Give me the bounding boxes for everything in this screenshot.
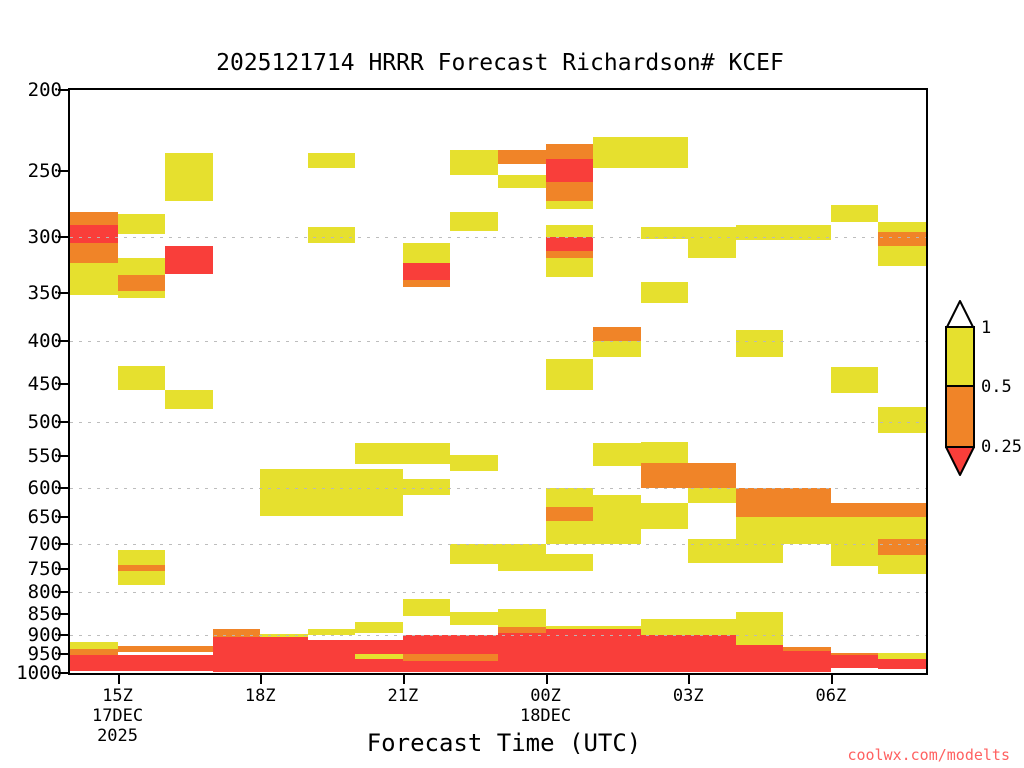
y-axis-tick-mark	[58, 543, 68, 545]
heatmap-cell	[736, 612, 784, 635]
heatmap-cell	[165, 153, 213, 201]
heatmap-cell	[118, 646, 213, 653]
heatmap-cell	[403, 654, 498, 662]
y-axis-tick-label: 350	[28, 282, 62, 304]
heatmap-cell	[450, 150, 498, 175]
heatmap-cell	[355, 622, 403, 633]
colorbar-label-0.5: 0.5	[981, 377, 1012, 397]
chart-title: 2025121714 HRRR Forecast Richardson# KCE…	[0, 50, 1024, 76]
heatmap-cell	[165, 390, 213, 409]
x-tick-line1: 00Z	[530, 686, 561, 706]
heatmap-cell	[593, 137, 688, 167]
x-axis-tick-label: 18Z	[245, 686, 276, 706]
heatmap-cell	[878, 539, 926, 555]
heatmap-cell	[308, 153, 356, 168]
x-axis-tick-mark	[403, 675, 405, 684]
heatmap-cell	[355, 654, 403, 659]
chart-root: 2025121714 HRRR Forecast Richardson# KCE…	[0, 0, 1024, 768]
x-tick-line1: 21Z	[388, 686, 419, 706]
y-axis-tick-mark	[58, 613, 68, 615]
heatmap-cell	[213, 629, 261, 637]
y-axis-tick-label: 850	[28, 603, 62, 625]
colorbar-top-arrow	[945, 300, 975, 328]
heatmap-cell	[593, 341, 641, 357]
chart-title-text: 2025121714 HRRR Forecast Richardson# KCE…	[216, 50, 784, 76]
y-axis-tick-mark	[58, 455, 68, 457]
heatmap-cell	[641, 463, 736, 488]
x-axis-ticks	[68, 675, 928, 685]
colorbar-body	[945, 326, 975, 448]
y-axis-tick-label: 250	[28, 160, 62, 182]
heatmap-cell	[641, 442, 689, 463]
heatmap-cell	[546, 182, 594, 201]
y-axis-tick-label: 450	[28, 373, 62, 395]
heatmap-cell	[831, 367, 879, 393]
y-axis-tick-label: 700	[28, 533, 62, 555]
heatmap-cell	[498, 150, 546, 164]
heatmap-cell	[498, 633, 546, 672]
x-axis-tick-label: 03Z	[673, 686, 704, 706]
heatmap-cell	[403, 263, 451, 281]
colorbar-label-1: 1	[981, 318, 991, 338]
x-axis-tick-mark	[688, 675, 690, 684]
x-tick-line1: 15Z	[102, 686, 133, 706]
heatmap-cell	[878, 232, 926, 246]
heatmap-cells	[70, 90, 926, 673]
heatmap-cell	[355, 443, 450, 464]
colorbar-segment-yellow	[947, 328, 973, 387]
y-axis-tick-mark	[58, 568, 68, 570]
heatmap-cell	[546, 359, 594, 390]
x-tick-line2: 17DEC	[92, 706, 143, 726]
y-axis-tick-label: 200	[28, 79, 62, 101]
heatmap-cell	[70, 649, 118, 656]
heatmap-cell	[831, 653, 879, 656]
heatmap-cell	[831, 544, 879, 567]
y-axis-tick-mark	[58, 340, 68, 342]
heatmap-cell	[118, 550, 166, 565]
y-axis-tick-mark	[58, 634, 68, 636]
plot-area	[68, 88, 928, 675]
x-axis-tick-mark	[118, 675, 120, 684]
heatmap-cell	[403, 479, 451, 495]
heatmap-cell	[70, 243, 118, 263]
heatmap-cell	[546, 201, 594, 209]
heatmap-cell	[70, 655, 213, 671]
x-tick-line1: 18Z	[245, 686, 276, 706]
y-axis-tick-label: 750	[28, 558, 62, 580]
y-axis-tick-label: 600	[28, 477, 62, 499]
y-axis-tick-label: 300	[28, 226, 62, 248]
y-axis-tick-label: 550	[28, 445, 62, 467]
heatmap-cell	[641, 503, 689, 529]
y-axis-tick-mark	[58, 591, 68, 593]
y-axis-tick-label: 400	[28, 330, 62, 352]
y-axis-tick-mark	[58, 89, 68, 91]
y-axis-tick-mark	[58, 236, 68, 238]
heatmap-cell	[641, 635, 736, 672]
heatmap-cell	[70, 225, 118, 243]
y-axis-tick-mark	[58, 672, 68, 674]
heatmap-cell	[308, 629, 356, 635]
y-axis-tick-label: 650	[28, 506, 62, 528]
y-axis-ticks	[58, 88, 68, 675]
heatmap-cell	[688, 239, 736, 258]
heatmap-cell	[878, 222, 926, 232]
x-axis-tick-label: 21Z	[388, 686, 419, 706]
gridline	[70, 673, 926, 674]
heatmap-cell	[736, 645, 784, 672]
heatmap-cell	[450, 455, 498, 471]
y-axis-tick-label: 500	[28, 411, 62, 433]
heatmap-cell	[831, 205, 879, 222]
heatmap-cell	[498, 609, 546, 627]
heatmap-cell	[403, 599, 451, 616]
heatmap-cell	[213, 637, 308, 672]
y-axis-tick-mark	[58, 292, 68, 294]
x-tick-line1: 06Z	[816, 686, 847, 706]
heatmap-cell	[878, 555, 926, 574]
heatmap-cell	[546, 159, 594, 182]
y-axis-tick-mark	[58, 421, 68, 423]
y-axis-tick-mark	[58, 653, 68, 655]
x-axis-tick-mark	[260, 675, 262, 684]
heatmap-cell	[118, 214, 166, 234]
heatmap-cell	[70, 212, 118, 225]
colorbar-legend: 1 0.5 0.25	[945, 300, 975, 475]
heatmap-cell	[546, 237, 594, 251]
heatmap-cell	[641, 619, 736, 635]
heatmap-cell	[641, 282, 689, 303]
heatmap-cell	[450, 612, 498, 625]
heatmap-cell	[546, 251, 594, 258]
colorbar-bottom-arrow	[945, 446, 975, 474]
x-axis-tick-label: 06Z	[816, 686, 847, 706]
x-axis-tick-label: 00Z18DEC	[520, 686, 571, 726]
heatmap-cell	[593, 327, 641, 341]
heatmap-cell	[783, 651, 831, 672]
heatmap-cell	[878, 246, 926, 265]
heatmap-cell	[546, 507, 594, 522]
heatmap-cell	[593, 443, 641, 466]
heatmap-cell	[831, 503, 926, 517]
heatmap-cell	[70, 263, 118, 295]
heatmap-cell	[593, 495, 641, 544]
y-axis-tick-mark	[58, 170, 68, 172]
x-tick-line2: 18DEC	[520, 706, 571, 726]
y-axis-tick-mark	[58, 516, 68, 518]
heatmap-cell	[546, 521, 594, 543]
heatmap-cell	[736, 488, 831, 517]
heatmap-cell	[878, 659, 926, 669]
y-axis-tick-mark	[58, 487, 68, 489]
x-axis-tick-mark	[831, 675, 833, 684]
heatmap-cell	[450, 212, 498, 231]
heatmap-cell	[831, 655, 879, 667]
heatmap-cell	[641, 227, 736, 239]
y-axis-labels: 2002503003504004505005506006507007508008…	[0, 88, 62, 675]
y-axis-tick-label: 800	[28, 581, 62, 603]
x-tick-line1: 03Z	[673, 686, 704, 706]
heatmap-cell	[878, 407, 926, 432]
heatmap-cell	[546, 144, 594, 159]
heatmap-cell	[118, 571, 166, 585]
heatmap-cell	[546, 629, 641, 672]
heatmap-cell	[736, 225, 831, 241]
heatmap-cell	[783, 647, 831, 651]
heatmap-cell	[546, 225, 594, 237]
heatmap-cell	[165, 246, 213, 273]
heatmap-cell	[546, 488, 594, 507]
colorbar-label-0.25: 0.25	[981, 437, 1022, 457]
y-axis-tick-label: 1000	[16, 662, 62, 684]
heatmap-cell	[118, 366, 166, 391]
watermark: coolwx.com/modelts	[847, 746, 1010, 764]
x-axis-tick-mark	[546, 675, 548, 684]
heatmap-cell	[403, 243, 451, 263]
heatmap-cell	[70, 642, 118, 649]
heatmap-cell	[260, 469, 403, 515]
heatmap-cell	[118, 258, 166, 275]
heatmap-cell	[308, 227, 356, 243]
heatmap-cell	[498, 554, 593, 571]
heatmap-cell	[736, 330, 784, 357]
heatmap-cell	[118, 291, 166, 298]
colorbar-segment-orange	[947, 387, 973, 446]
x-axis-title-text: Forecast Time (UTC)	[367, 729, 642, 757]
heatmap-cell	[403, 280, 451, 287]
heatmap-cell	[688, 539, 783, 563]
heatmap-cell	[546, 258, 594, 277]
y-axis-tick-mark	[58, 383, 68, 385]
heatmap-cell	[498, 175, 546, 188]
heatmap-cell	[118, 275, 166, 291]
